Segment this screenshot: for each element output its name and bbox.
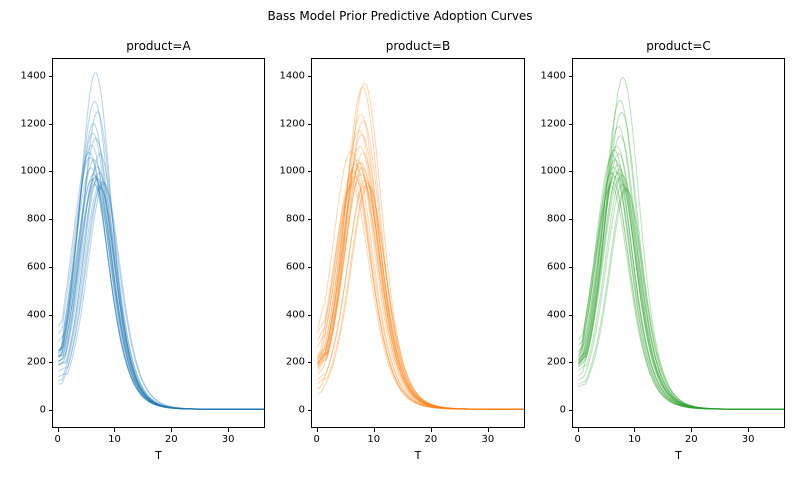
posterior-draw-line — [579, 100, 784, 409]
ytick-mark — [49, 124, 53, 125]
ytick-mark — [308, 171, 312, 172]
ytick-label: 600 — [27, 261, 46, 272]
ytick-mark — [49, 76, 53, 77]
posterior-draw-line — [579, 188, 784, 409]
ytick-label: 1000 — [541, 166, 566, 177]
ytick-mark — [569, 171, 573, 172]
ytick-label: 400 — [286, 309, 305, 320]
xtick-label: 20 — [685, 434, 698, 445]
xtick-label: 30 — [222, 434, 235, 445]
xtick-label: 10 — [628, 434, 641, 445]
ytick-label: 200 — [27, 357, 46, 368]
axes-frame-b — [311, 58, 525, 428]
posterior-draw-line — [579, 189, 784, 409]
posterior-draw-line — [59, 182, 264, 409]
xaxis-label-b: T — [311, 449, 525, 462]
posterior-draw-line — [59, 145, 264, 409]
ytick-mark — [308, 410, 312, 411]
ytick-mark — [569, 267, 573, 268]
ytick-label: 400 — [27, 309, 46, 320]
posterior-draw-line — [579, 160, 784, 410]
xtick-mark — [317, 428, 318, 432]
subplot-panel-b: product=B 020040060080010001200140001020… — [311, 58, 525, 428]
xtick-mark — [634, 428, 635, 432]
posterior-draw-line — [318, 83, 524, 409]
ytick-mark — [569, 410, 573, 411]
posterior-draw-line — [579, 178, 784, 409]
panel-title-c: product=C — [572, 39, 785, 58]
subplot-panel-c: product=C 020040060080010001200140001020… — [572, 58, 785, 428]
posterior-draw-line — [59, 183, 264, 409]
posterior-draw-line — [59, 186, 264, 410]
ytick-mark — [308, 124, 312, 125]
ytick-mark — [49, 315, 53, 316]
ytick-label: 1200 — [541, 118, 566, 129]
ytick-mark — [308, 76, 312, 77]
figure-canvas: Bass Model Prior Predictive Adoption Cur… — [0, 0, 800, 480]
xtick-label: 20 — [424, 434, 437, 445]
posterior-draw-line — [579, 184, 784, 409]
xtick-label: 0 — [54, 434, 60, 445]
xtick-mark — [171, 428, 172, 432]
xaxis-label-a: T — [52, 449, 265, 462]
xtick-mark — [578, 428, 579, 432]
curve-bundle-a — [53, 59, 264, 427]
ytick-mark — [49, 267, 53, 268]
posterior-draw-line — [59, 138, 264, 409]
ytick-label: 1000 — [280, 166, 305, 177]
posterior-draw-line — [59, 173, 264, 409]
axes-frame-c — [572, 58, 785, 428]
axes-frame-a — [52, 58, 265, 428]
ytick-label: 0 — [299, 405, 305, 416]
ytick-label: 0 — [40, 405, 46, 416]
xtick-mark — [58, 428, 59, 432]
xtick-label: 0 — [574, 434, 580, 445]
ytick-label: 1200 — [21, 118, 46, 129]
ytick-label: 1000 — [21, 166, 46, 177]
ytick-mark — [308, 219, 312, 220]
posterior-draw-line — [318, 87, 524, 409]
ytick-label: 400 — [547, 309, 566, 320]
ytick-mark — [308, 362, 312, 363]
ytick-mark — [569, 315, 573, 316]
curve-bundle-c — [573, 59, 784, 427]
posterior-draw-line — [318, 121, 524, 409]
ytick-label: 1200 — [280, 118, 305, 129]
xtick-mark — [374, 428, 375, 432]
curve-bundle-b — [312, 59, 524, 427]
xtick-label: 0 — [314, 434, 320, 445]
ytick-label: 1400 — [541, 70, 566, 81]
posterior-draw-line — [318, 114, 524, 409]
xtick-mark — [748, 428, 749, 432]
ytick-mark — [308, 315, 312, 316]
xtick-mark — [431, 428, 432, 432]
ytick-mark — [49, 219, 53, 220]
xtick-label: 10 — [367, 434, 380, 445]
ytick-label: 1400 — [21, 70, 46, 81]
posterior-draw-line — [59, 133, 264, 409]
xtick-mark — [488, 428, 489, 432]
xtick-label: 30 — [742, 434, 755, 445]
figure-title: Bass Model Prior Predictive Adoption Cur… — [0, 8, 800, 24]
ytick-mark — [569, 76, 573, 77]
posterior-draw-line — [59, 160, 264, 410]
ytick-label: 600 — [286, 261, 305, 272]
ytick-label: 800 — [547, 214, 566, 225]
ytick-mark — [49, 410, 53, 411]
ytick-label: 200 — [547, 357, 566, 368]
xtick-label: 20 — [165, 434, 178, 445]
ytick-label: 1400 — [280, 70, 305, 81]
xtick-mark — [228, 428, 229, 432]
panel-title-a: product=A — [52, 39, 265, 58]
xtick-mark — [114, 428, 115, 432]
ytick-label: 800 — [27, 214, 46, 225]
subplot-panel-a: product=A 020040060080010001200140001020… — [52, 58, 265, 428]
xtick-label: 10 — [108, 434, 121, 445]
ytick-mark — [49, 362, 53, 363]
panel-title-b: product=B — [311, 39, 525, 58]
ytick-mark — [569, 219, 573, 220]
posterior-draw-line — [318, 130, 524, 409]
posterior-draw-line — [318, 174, 524, 409]
ytick-mark — [569, 362, 573, 363]
posterior-draw-line — [579, 187, 784, 410]
xaxis-label-c: T — [572, 449, 785, 462]
xtick-label: 30 — [482, 434, 495, 445]
ytick-mark — [308, 267, 312, 268]
ytick-label: 800 — [286, 214, 305, 225]
ytick-mark — [49, 171, 53, 172]
ytick-mark — [569, 124, 573, 125]
ytick-label: 0 — [560, 405, 566, 416]
posterior-draw-line — [59, 184, 264, 409]
ytick-label: 200 — [286, 357, 305, 368]
xtick-mark — [691, 428, 692, 432]
ytick-label: 600 — [547, 261, 566, 272]
